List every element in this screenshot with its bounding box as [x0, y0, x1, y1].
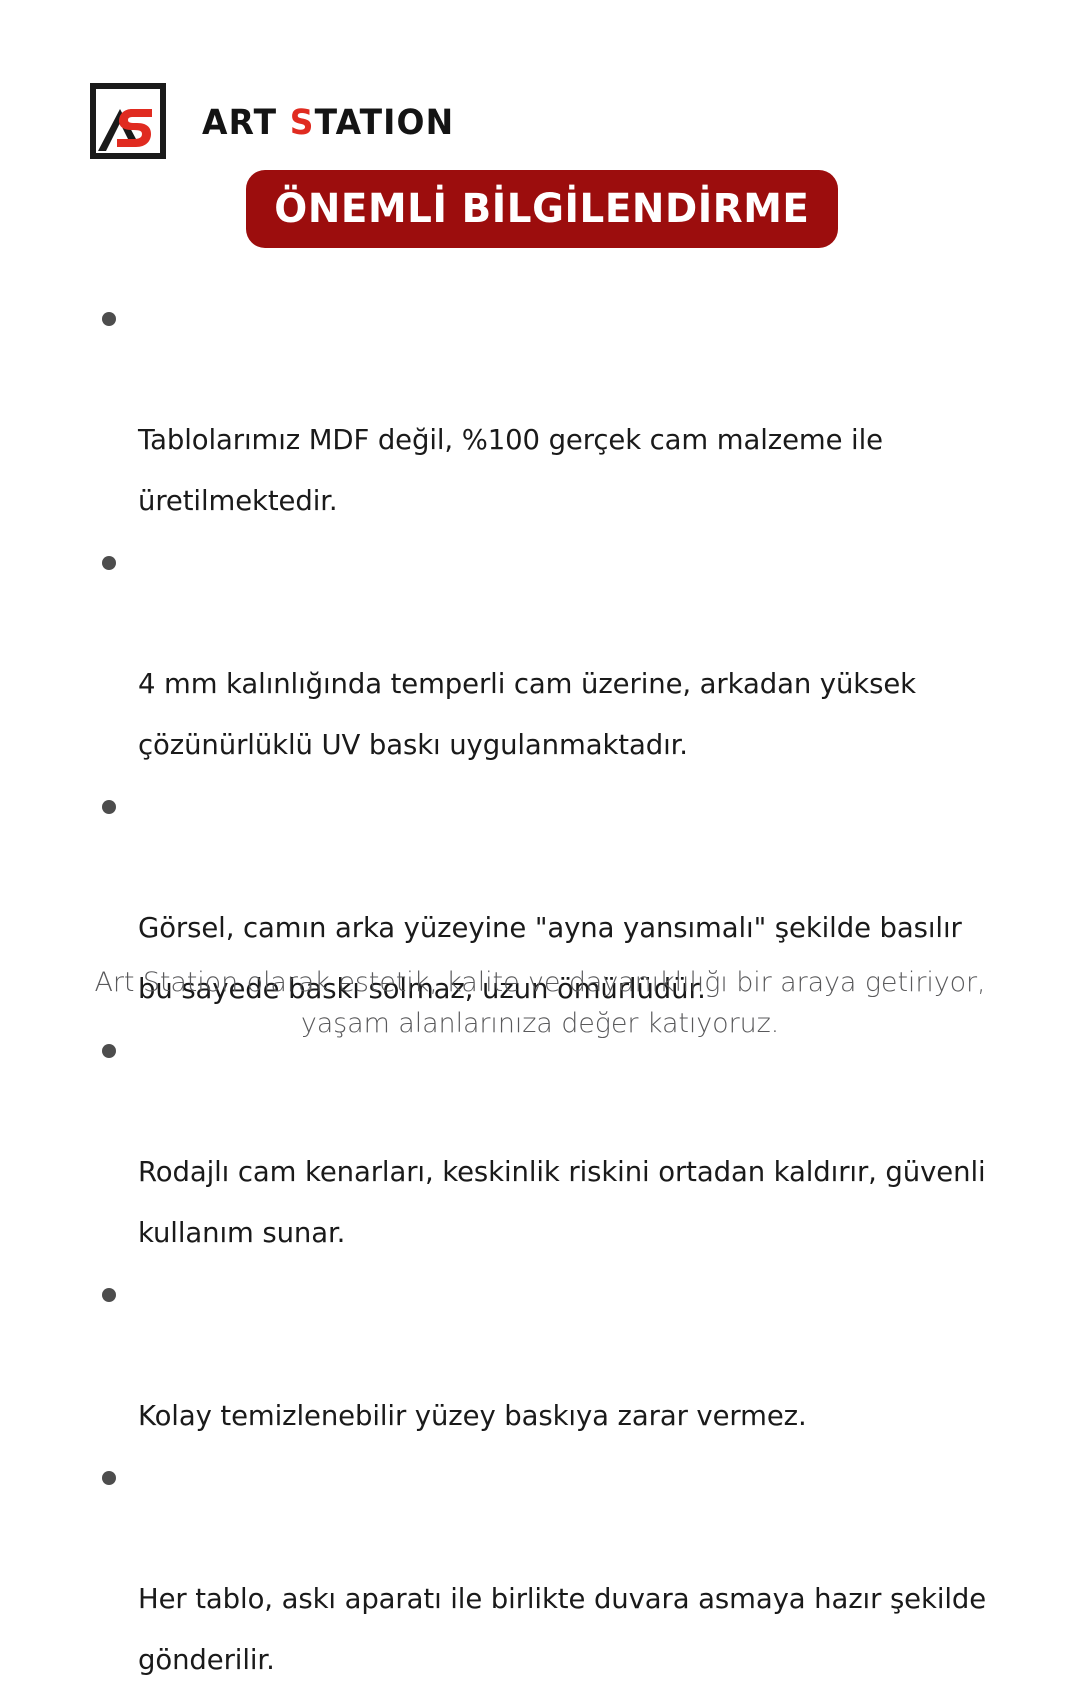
- bullet-dot-icon: [102, 312, 116, 326]
- list-item: 4 mm kalınlığında temperli cam üzerine, …: [100, 532, 1040, 776]
- bullet-dot-icon: [102, 1288, 116, 1302]
- list-item-text: Kolay temizlenebilir yüzey baskıya zarar…: [138, 1400, 807, 1432]
- info-card-page: ART STATION ÖNEMLİ BİLGİLENDİRME Tablola…: [0, 0, 1080, 1080]
- bullet-dot-icon: [102, 800, 116, 814]
- list-item: Rodajlı cam kenarları, keskinlik riskini…: [100, 1020, 1040, 1264]
- footer-tagline: Art Station olarak estetik, kalite ve da…: [0, 962, 1080, 1044]
- bullet-dot-icon: [102, 556, 116, 570]
- headline-banner: ÖNEMLİ BİLGİLENDİRME: [246, 170, 838, 248]
- bullet-dot-icon: [102, 1471, 116, 1485]
- list-item-text: Tablolarımız MDF değil, %100 gerçek cam …: [138, 424, 883, 517]
- headline-banner-title: ÖNEMLİ BİLGİLENDİRME: [274, 189, 809, 229]
- wordmark-s: S: [290, 103, 315, 143]
- list-item: Kolay temizlenebilir yüzey baskıya zarar…: [100, 1264, 1040, 1447]
- list-item-text: Rodajlı cam kenarları, keskinlik riskini…: [138, 1156, 986, 1249]
- brand-wordmark: ART STATION: [202, 106, 454, 141]
- wordmark-art: ART: [202, 103, 290, 143]
- list-item-text: 4 mm kalınlığında temperli cam üzerine, …: [138, 668, 916, 761]
- wordmark-tation: TATION: [315, 103, 455, 143]
- list-item: Tablolarımız MDF değil, %100 gerçek cam …: [100, 288, 1040, 532]
- brand-header: ART STATION: [90, 83, 470, 159]
- bullet-dot-icon: [102, 1044, 116, 1058]
- list-item: Her tablo, askı aparatı ile birlikte duv…: [100, 1447, 1040, 1691]
- as-monogram-logo-icon: [90, 83, 180, 159]
- list-item-text: Her tablo, askı aparatı ile birlikte duv…: [138, 1583, 986, 1676]
